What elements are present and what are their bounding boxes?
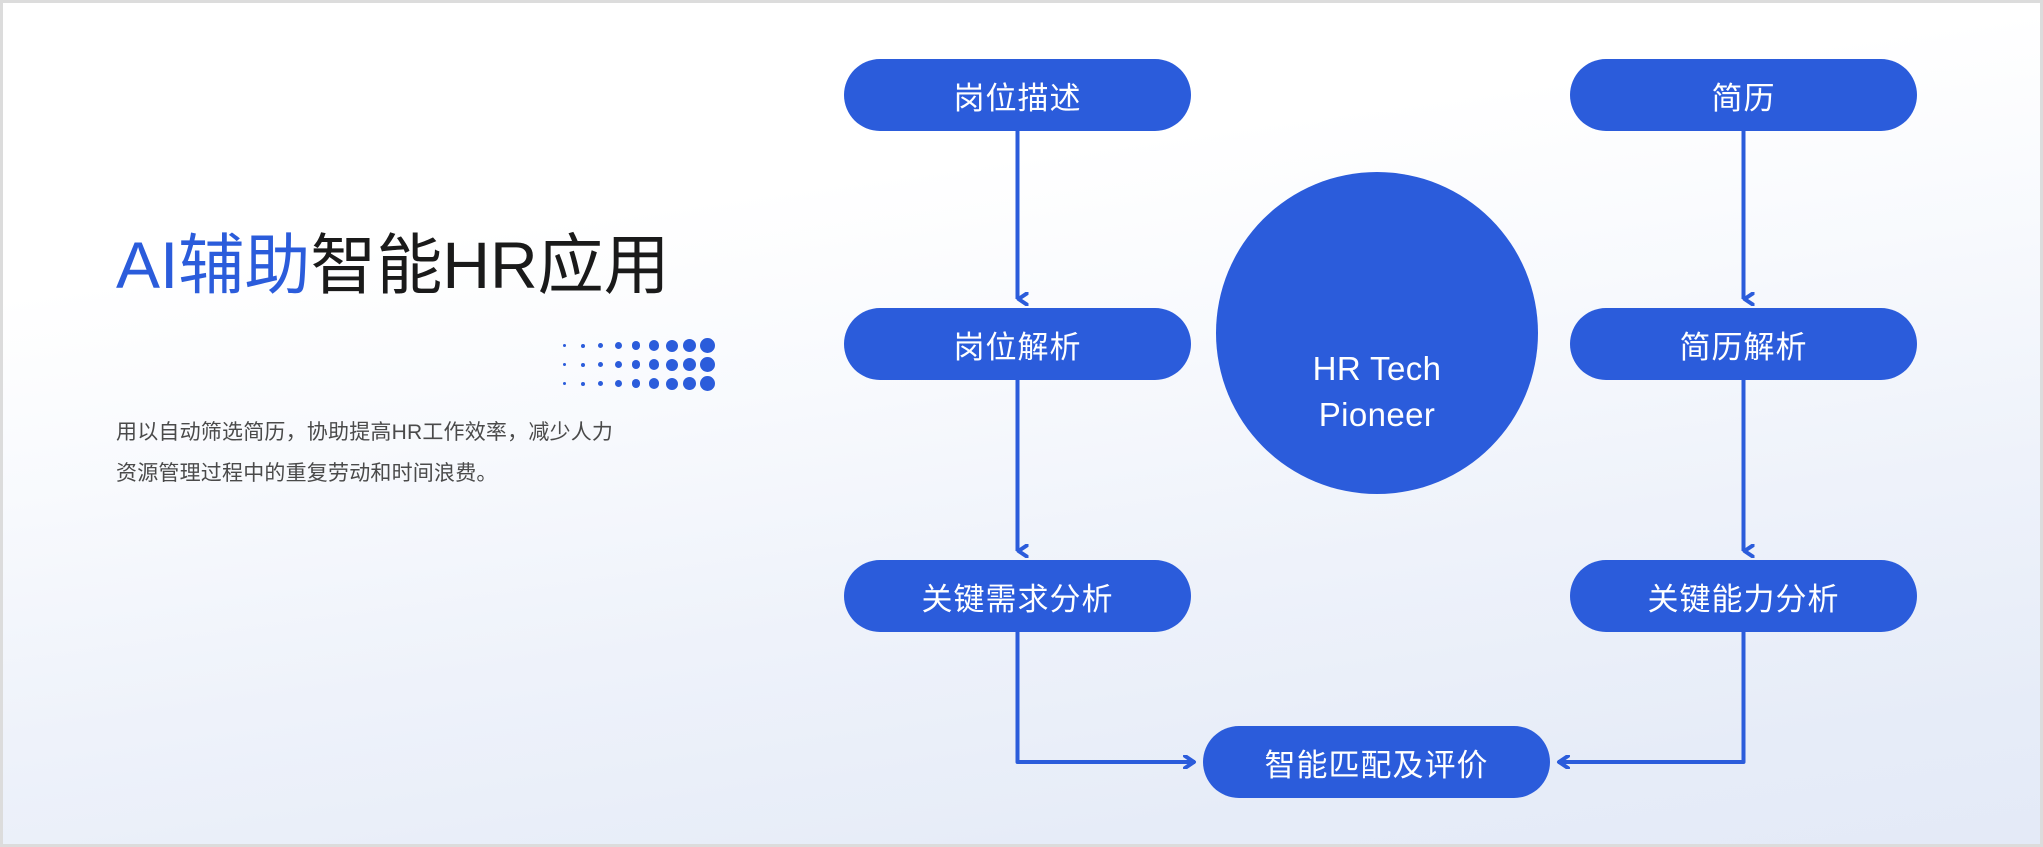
flow-node-smart-match[interactable]: 智能匹配及评价 bbox=[1203, 726, 1550, 798]
flow-center-circle[interactable]: HR Tech Pioneer bbox=[1216, 172, 1538, 494]
flow-center-circle-line-1: HR Tech bbox=[1313, 350, 1442, 387]
connector-key-requirement-to-smart-match bbox=[1018, 632, 1196, 762]
flow-center-circle-text: HR Tech Pioneer bbox=[1313, 346, 1442, 437]
flow-node-job-key-requirement[interactable]: 关键需求分析 bbox=[844, 560, 1191, 632]
flow-node-job-description[interactable]: 岗位描述 bbox=[844, 59, 1191, 131]
flow-node-job-parse[interactable]: 岗位解析 bbox=[844, 308, 1191, 380]
flow-node-resume[interactable]: 简历 bbox=[1570, 59, 1917, 131]
connector-key-ability-to-smart-match bbox=[1558, 632, 1744, 762]
flow-node-resume-key-ability[interactable]: 关键能力分析 bbox=[1570, 560, 1917, 632]
slide-canvas: AI辅助智能HR应用 用以自动筛选简历，协助提高HR工作效率，减少人力 资源管理… bbox=[0, 0, 2043, 847]
flow-center-circle-line-2: Pioneer bbox=[1319, 396, 1436, 433]
flow-node-resume-parse[interactable]: 简历解析 bbox=[1570, 308, 1917, 380]
flow-diagram: 岗位描述 岗位解析 关键需求分析 简历 简历解析 关键能力分析 HR Tech … bbox=[3, 3, 2043, 847]
